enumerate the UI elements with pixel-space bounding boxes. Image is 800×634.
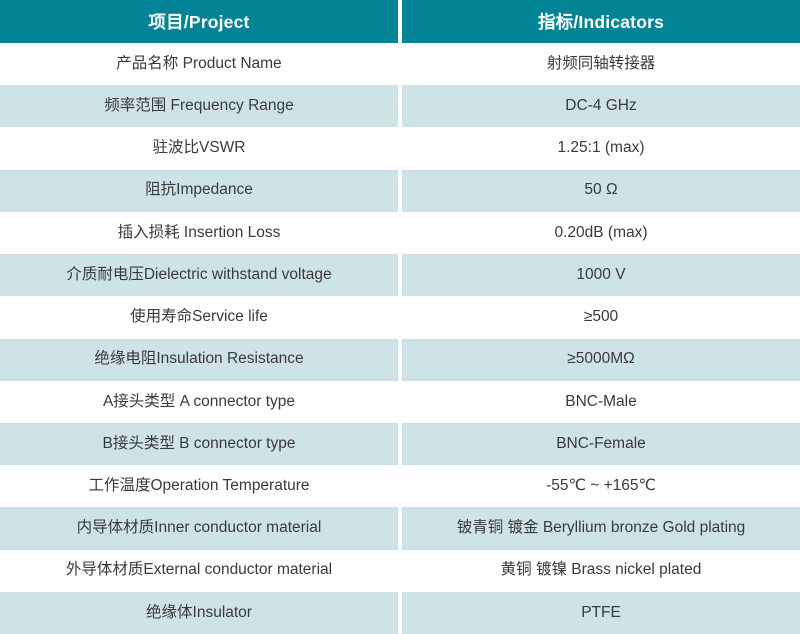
cell-indicator: 1.25:1 (max)	[402, 127, 800, 169]
table-row: 内导体材质Inner conductor material铍青铜 镀金 Bery…	[0, 507, 800, 549]
cell-project: 驻波比VSWR	[0, 127, 398, 169]
cell-project: 频率范围 Frequency Range	[0, 85, 398, 127]
table-row: 产品名称 Product Name射频同轴转接器	[0, 43, 800, 85]
table-row: 频率范围 Frequency RangeDC-4 GHz	[0, 85, 800, 127]
cell-indicator: 铍青铜 镀金 Beryllium bronze Gold plating	[402, 507, 800, 549]
table-row: 使用寿命Service life≥500	[0, 296, 800, 338]
cell-indicator: 1000 V	[402, 254, 800, 296]
table-row: 绝缘体InsulatorPTFE	[0, 592, 800, 634]
cell-project: 绝缘体Insulator	[0, 592, 398, 634]
table-row: 绝缘电阻Insulation Resistance≥5000MΩ	[0, 339, 800, 381]
cell-indicator: 黄铜 镀镍 Brass nickel plated	[402, 550, 800, 592]
cell-indicator: 0.20dB (max)	[402, 212, 800, 254]
cell-indicator: 射频同轴转接器	[402, 43, 800, 85]
cell-project: 介质耐电压Dielectric withstand voltage	[0, 254, 398, 296]
cell-project: 阻抗Impedance	[0, 170, 398, 212]
table-row: 驻波比VSWR1.25:1 (max)	[0, 127, 800, 169]
cell-indicator: 50 Ω	[402, 170, 800, 212]
table-row: A接头类型 A connector typeBNC-Male	[0, 381, 800, 423]
cell-indicator: ≥5000MΩ	[402, 339, 800, 381]
table-header-row: 项目/Project 指标/Indicators	[0, 0, 800, 43]
cell-project: 产品名称 Product Name	[0, 43, 398, 85]
cell-project: B接头类型 B connector type	[0, 423, 398, 465]
table-row: 介质耐电压Dielectric withstand voltage1000 V	[0, 254, 800, 296]
specification-table: 项目/Project 指标/Indicators 产品名称 Product Na…	[0, 0, 800, 634]
cell-indicator: ≥500	[402, 296, 800, 338]
table-row: 插入损耗 Insertion Loss0.20dB (max)	[0, 212, 800, 254]
table-row: 外导体材质External conductor material黄铜 镀镍 Br…	[0, 550, 800, 592]
cell-project: 内导体材质Inner conductor material	[0, 507, 398, 549]
cell-project: 外导体材质External conductor material	[0, 550, 398, 592]
cell-project: 插入损耗 Insertion Loss	[0, 212, 398, 254]
cell-indicator: BNC-Female	[402, 423, 800, 465]
cell-indicator: DC-4 GHz	[402, 85, 800, 127]
table-row: B接头类型 B connector typeBNC-Female	[0, 423, 800, 465]
column-header-indicators: 指标/Indicators	[402, 0, 800, 43]
table-row: 工作温度Operation Temperature-55℃ ~ +165℃	[0, 465, 800, 507]
table-body: 产品名称 Product Name射频同轴转接器频率范围 Frequency R…	[0, 43, 800, 634]
table-row: 阻抗Impedance50 Ω	[0, 170, 800, 212]
cell-indicator: PTFE	[402, 592, 800, 634]
cell-project: 使用寿命Service life	[0, 296, 398, 338]
cell-project: 绝缘电阻Insulation Resistance	[0, 339, 398, 381]
cell-project: A接头类型 A connector type	[0, 381, 398, 423]
cell-indicator: BNC-Male	[402, 381, 800, 423]
cell-project: 工作温度Operation Temperature	[0, 465, 398, 507]
column-header-project: 项目/Project	[0, 0, 398, 43]
cell-indicator: -55℃ ~ +165℃	[402, 465, 800, 507]
